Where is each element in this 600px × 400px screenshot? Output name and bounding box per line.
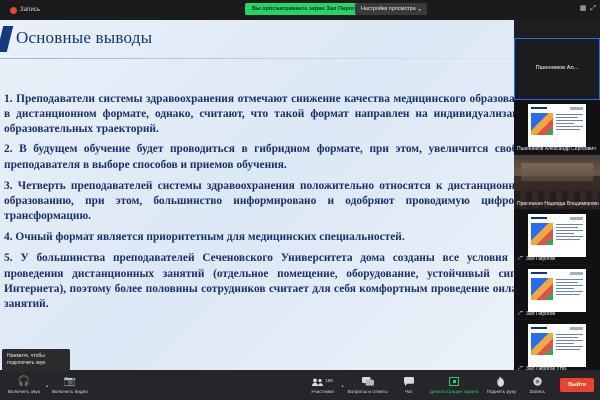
participant-tile[interactable]: Присяжная Надежда Владимировна [514, 155, 600, 210]
raise-hand-icon [497, 376, 506, 387]
shared-slide-thumbnail [528, 104, 586, 147]
camera-off-icon: 📷 [64, 376, 76, 387]
participant-tile[interactable]: 🎤 Зал Пирогов [514, 210, 600, 265]
qa-label: Вопросы и ответы [348, 389, 388, 394]
mic-muted-icon: 🎤 [517, 311, 524, 317]
participant-name-text: Зал Пирогов [526, 311, 555, 317]
slide-divider [0, 58, 600, 59]
qa-button[interactable]: Вопросы и ответы [344, 376, 392, 394]
participant-name: 🎤 Зал Пирогов [517, 311, 555, 317]
shared-slide-thumbnail [528, 324, 586, 367]
participants-count: 198 [325, 379, 333, 384]
recording-label: Запись [20, 7, 40, 13]
start-video-label: Включить видео [52, 389, 88, 394]
slide-paragraph-3: 3. Четверть преподавателей системы здрав… [4, 179, 534, 224]
grid-view-icon[interactable]: ▦ [580, 5, 587, 12]
top-bar-right-controls: ▦ ⤢ [580, 5, 596, 12]
participant-tile[interactable]: 🎤 Зал Пирогов [514, 265, 600, 320]
connect-audio-tooltip: Нажмите, чтобы подключить звук [2, 349, 70, 371]
slide-paragraph-2: 2. В будущем обучение будет проводиться … [4, 142, 534, 172]
fullscreen-icon[interactable]: ⤢ [590, 5, 596, 12]
headset-muted-icon: 🎧 [18, 376, 30, 387]
leave-meeting-button[interactable]: Выйти [560, 378, 594, 392]
slide-paragraph-5: 5. У большинства преподавателей Сеченовс… [4, 251, 534, 312]
view-options-label: Настройки просмотра [361, 6, 416, 12]
participant-tile[interactable]: Пшенников Александр Сергеевич [514, 100, 600, 155]
slide-paragraph-1: 1. Преподаватели системы здравоохранения… [4, 92, 534, 137]
unmute-button[interactable]: 🎧 Включить звук [4, 376, 44, 394]
slide-paragraph-4: 4. Очный формат является приоритетным дл… [4, 230, 534, 245]
participant-tile[interactable]: 🎤 Зал Пирогов УНБ [514, 320, 600, 370]
participant-name-text: Зал Пирогов [526, 256, 555, 262]
shared-slide-thumbnail [528, 269, 586, 312]
participants-label: Участники [311, 389, 334, 394]
meeting-toolbar: 🎧 Включить звук ▴ 📷 Включить видео 198 У… [0, 370, 600, 400]
raise-hand-label: Поднять руку [487, 389, 517, 394]
record-dot-icon [10, 7, 17, 14]
audio-control-group[interactable]: 🎧 Включить звук ▴ [4, 376, 48, 394]
screen-sharing-banner: Вы просматриваете экран Зал Пирогов [245, 3, 368, 15]
chat-button[interactable]: Чат [392, 376, 426, 394]
shared-slide-thumbnail [528, 214, 586, 257]
unmute-label: Включить звук [8, 389, 40, 394]
slide-body: 1. Преподаватели системы здравоохранения… [4, 92, 534, 318]
start-video-button[interactable]: 📷 Включить видео [48, 376, 92, 394]
active-speaker-tile[interactable]: Пшенников Ал... [514, 38, 600, 100]
recording-indicator[interactable]: Запись [10, 7, 40, 14]
view-options-button[interactable]: Настройки просмотра ▾ [355, 3, 427, 15]
record-button[interactable]: Запись [520, 376, 554, 394]
share-screen-label: Демонстрация экрана [430, 389, 479, 394]
chat-label: Чат [405, 389, 413, 394]
chevron-down-icon: ▾ [419, 7, 421, 12]
participant-name: Пшенников Александр Сергеевич [517, 146, 596, 152]
participant-name: Присяжная Надежда Владимировна [517, 201, 599, 207]
participants-control-group[interactable]: 198 Участники ▴ [305, 376, 343, 394]
share-screen-icon [449, 376, 459, 387]
participants-button[interactable]: 198 Участники [305, 376, 339, 394]
share-screen-button[interactable]: Демонстрация экрана [426, 376, 483, 394]
record-label: Запись [529, 389, 545, 394]
participant-name: 🎤 Зал Пирогов [517, 256, 555, 262]
page-title: Основные выводы [16, 28, 152, 48]
mic-muted-icon: 🎤 [517, 256, 524, 262]
chat-icon [404, 376, 414, 387]
shared-screen-slide: Основные выводы 1. Преподаватели системы… [0, 20, 600, 370]
active-speaker-name: Пшенников Ал... [515, 65, 599, 71]
slide-accent-bar [0, 26, 13, 52]
qa-icon [362, 376, 374, 387]
raise-hand-button[interactable]: Поднять руку [483, 376, 521, 394]
filmstrip-top-spacer [514, 20, 600, 38]
zoom-meeting-window: Запись ▦ ⤢ Вы просматриваете экран Зал П… [0, 0, 600, 400]
participant-filmstrip[interactable]: Пшенников Ал... Пшенников Александр Серг… [514, 20, 600, 370]
record-icon [533, 376, 542, 387]
participants-icon: 198 [312, 376, 333, 387]
